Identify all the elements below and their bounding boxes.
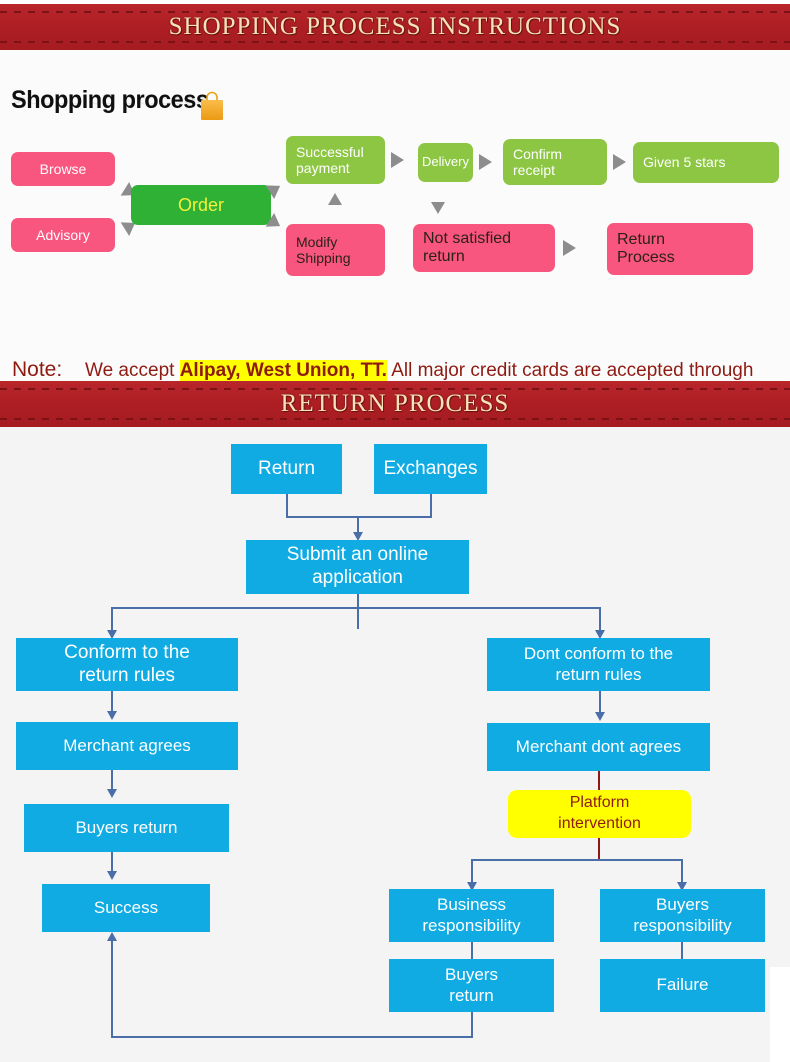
node-merchant-dont-agrees-label: Merchant dont agrees [516, 737, 681, 757]
shopping-bag-icon [199, 91, 225, 121]
connector-split-horizontal [111, 607, 601, 609]
node-submit-application-label: Submit an online application [287, 544, 429, 590]
shopping-process-section: Shopping process Shopping process Browse… [0, 50, 790, 381]
connector-split-left [111, 607, 113, 632]
node-not-satisfied-line1: Not satisfied [423, 230, 511, 247]
node-buyers-return-bottom-line2: return [449, 986, 493, 1005]
node-not-satisfied-return-label: Not satisfied return [423, 230, 511, 267]
node-business-responsibility[interactable]: Business responsibility [389, 889, 554, 942]
node-dont-conform-line2: return rules [556, 665, 642, 684]
node-browse[interactable]: Browse [11, 152, 115, 186]
note-text-before: We accept [85, 360, 180, 381]
node-successful-payment-line1: Successful [296, 144, 364, 160]
node-conform-line1: Conform to the [64, 642, 190, 663]
node-given-5-stars-label: Given 5 stars [643, 154, 725, 170]
node-buyers-responsibility-label: Buyers responsibility [633, 895, 731, 936]
node-modify-shipping[interactable]: Modify Shipping [286, 224, 385, 276]
node-buyers-return-bottom[interactable]: Buyers return [389, 959, 554, 1012]
node-platform-line2: intervention [558, 815, 641, 832]
node-not-satisfied-line2: return [423, 248, 465, 265]
node-merchant-agrees[interactable]: Merchant agrees [16, 722, 238, 770]
node-platform-line1: Platform [570, 794, 630, 811]
arrow-to-buyers-return-icon [107, 789, 117, 798]
arrow-to-merchant-dont-agrees-icon [595, 712, 605, 721]
connector-exchanges-down [430, 494, 432, 516]
node-buyers-resp-line1: Buyers [656, 895, 709, 914]
arrow-modify-to-payment-icon [328, 193, 342, 205]
connector-submit-down [357, 594, 359, 629]
node-return-process-line1: Return [617, 231, 665, 248]
node-given-5-stars[interactable]: Given 5 stars [633, 142, 779, 183]
node-delivery-label: Delivery [422, 155, 469, 170]
shopping-process-heading: Shopping process [11, 86, 208, 115]
node-conform-line2: return rules [79, 665, 175, 686]
node-advisory-label: Advisory [36, 227, 90, 243]
connector-platform-split-right [681, 859, 683, 884]
node-modify-shipping-line1: Modify [296, 234, 337, 250]
node-failure-label: Failure [657, 975, 709, 995]
arrow-to-merchant-agrees-icon [107, 711, 117, 720]
node-buyers-return-bottom-label: Buyers return [445, 965, 498, 1006]
return-process-banner: RETURN PROCESS [0, 381, 790, 427]
connector-business-resp-down [471, 942, 473, 959]
node-merchant-agrees-label: Merchant agrees [63, 736, 191, 756]
bottom-right-white-area [770, 967, 790, 1062]
connector-feedback-down [471, 1012, 473, 1038]
arrow-delivery-to-not-satisfied-icon [431, 202, 445, 214]
node-success-label: Success [94, 898, 158, 918]
connector-platform-split-left [471, 859, 473, 884]
connector-dont-conform-down [599, 691, 601, 714]
node-success[interactable]: Success [42, 884, 210, 932]
node-business-resp-line2: responsibility [422, 916, 520, 935]
node-failure[interactable]: Failure [600, 959, 765, 1012]
shopping-banner-title: SHOPPING PROCESS INSTRUCTIONS [0, 4, 790, 50]
node-conform-return-rules[interactable]: Conform to the return rules [16, 638, 238, 691]
node-buyers-resp-line2: responsibility [633, 916, 731, 935]
arrow-confirm-to-stars-icon [613, 154, 626, 170]
node-confirm-receipt-line2: receipt [513, 162, 555, 178]
connector-buyers-resp-down [681, 942, 683, 959]
node-merchant-dont-agrees[interactable]: Merchant dont agrees [487, 723, 710, 771]
arrow-delivery-to-confirm-icon [479, 154, 492, 170]
node-order[interactable]: Order [131, 185, 271, 225]
node-buyers-return-bottom-line1: Buyers [445, 965, 498, 984]
node-successful-payment[interactable]: Successful payment [286, 136, 385, 184]
node-order-label: Order [178, 195, 224, 216]
node-buyers-return-left-label: Buyers return [75, 818, 177, 838]
node-confirm-receipt-label: Confirm receipt [513, 146, 562, 178]
node-modify-shipping-line2: Shipping [296, 250, 351, 266]
connector-feedback-horizontal [111, 1036, 473, 1038]
arrow-feedback-to-success-icon [107, 932, 117, 941]
connector-platform-down [598, 838, 600, 859]
node-advisory[interactable]: Advisory [11, 218, 115, 252]
connector-return-down [286, 494, 288, 516]
connector-row1-join [286, 516, 432, 518]
arrow-not-satisfied-to-return-process-icon [563, 240, 576, 256]
node-dont-conform-line1: Dont conform to the [524, 644, 673, 663]
node-buyers-responsibility[interactable]: Buyers responsibility [600, 889, 765, 942]
node-platform-intervention[interactable]: Platform intervention [508, 790, 691, 838]
node-successful-payment-line2: payment [296, 160, 350, 176]
node-modify-shipping-label: Modify Shipping [296, 234, 351, 266]
return-process-section: Return Exchanges Submit an online applic… [0, 427, 790, 1062]
connector-feedback-up [111, 941, 113, 1037]
node-exchanges[interactable]: Exchanges [374, 444, 487, 494]
connector-to-platform [598, 771, 600, 791]
node-confirm-receipt-line1: Confirm [513, 146, 562, 162]
node-delivery[interactable]: Delivery [418, 143, 473, 182]
node-return-process-label: Return Process [617, 231, 675, 268]
node-browse-label: Browse [40, 161, 87, 177]
connector-platform-split [471, 859, 682, 861]
node-return[interactable]: Return [231, 444, 342, 494]
node-buyers-return-left[interactable]: Buyers return [24, 804, 229, 852]
node-submit-line1: Submit an online [287, 544, 429, 565]
node-submit-application[interactable]: Submit an online application [246, 540, 469, 594]
node-confirm-receipt[interactable]: Confirm receipt [503, 139, 607, 185]
node-return-label: Return [258, 458, 315, 481]
node-return-process[interactable]: Return Process [607, 223, 753, 275]
arrow-payment-to-delivery-icon [391, 152, 404, 168]
node-platform-label: Platform intervention [558, 793, 641, 835]
connector-conform-down [111, 691, 113, 713]
node-submit-line2: application [312, 567, 403, 588]
connector-join-to-submit [357, 516, 359, 533]
node-return-process-line2: Process [617, 249, 675, 266]
arrow-to-success-icon [107, 871, 117, 880]
node-successful-payment-label: Successful payment [296, 144, 364, 176]
return-banner-title: RETURN PROCESS [0, 381, 790, 427]
node-not-satisfied-return[interactable]: Not satisfied return [413, 224, 555, 272]
node-dont-conform-return-rules[interactable]: Dont conform to the return rules [487, 638, 710, 691]
node-dont-conform-label: Dont conform to the return rules [524, 644, 673, 685]
node-exchanges-label: Exchanges [383, 458, 477, 481]
node-business-resp-line1: Business [437, 895, 506, 914]
node-conform-label: Conform to the return rules [64, 642, 190, 688]
shopping-process-banner: SHOPPING PROCESS INSTRUCTIONS [0, 4, 790, 50]
note-highlight: Alipay, West Union, TT. [180, 360, 387, 381]
node-business-responsibility-label: Business responsibility [422, 895, 520, 936]
connector-split-right [599, 607, 601, 632]
